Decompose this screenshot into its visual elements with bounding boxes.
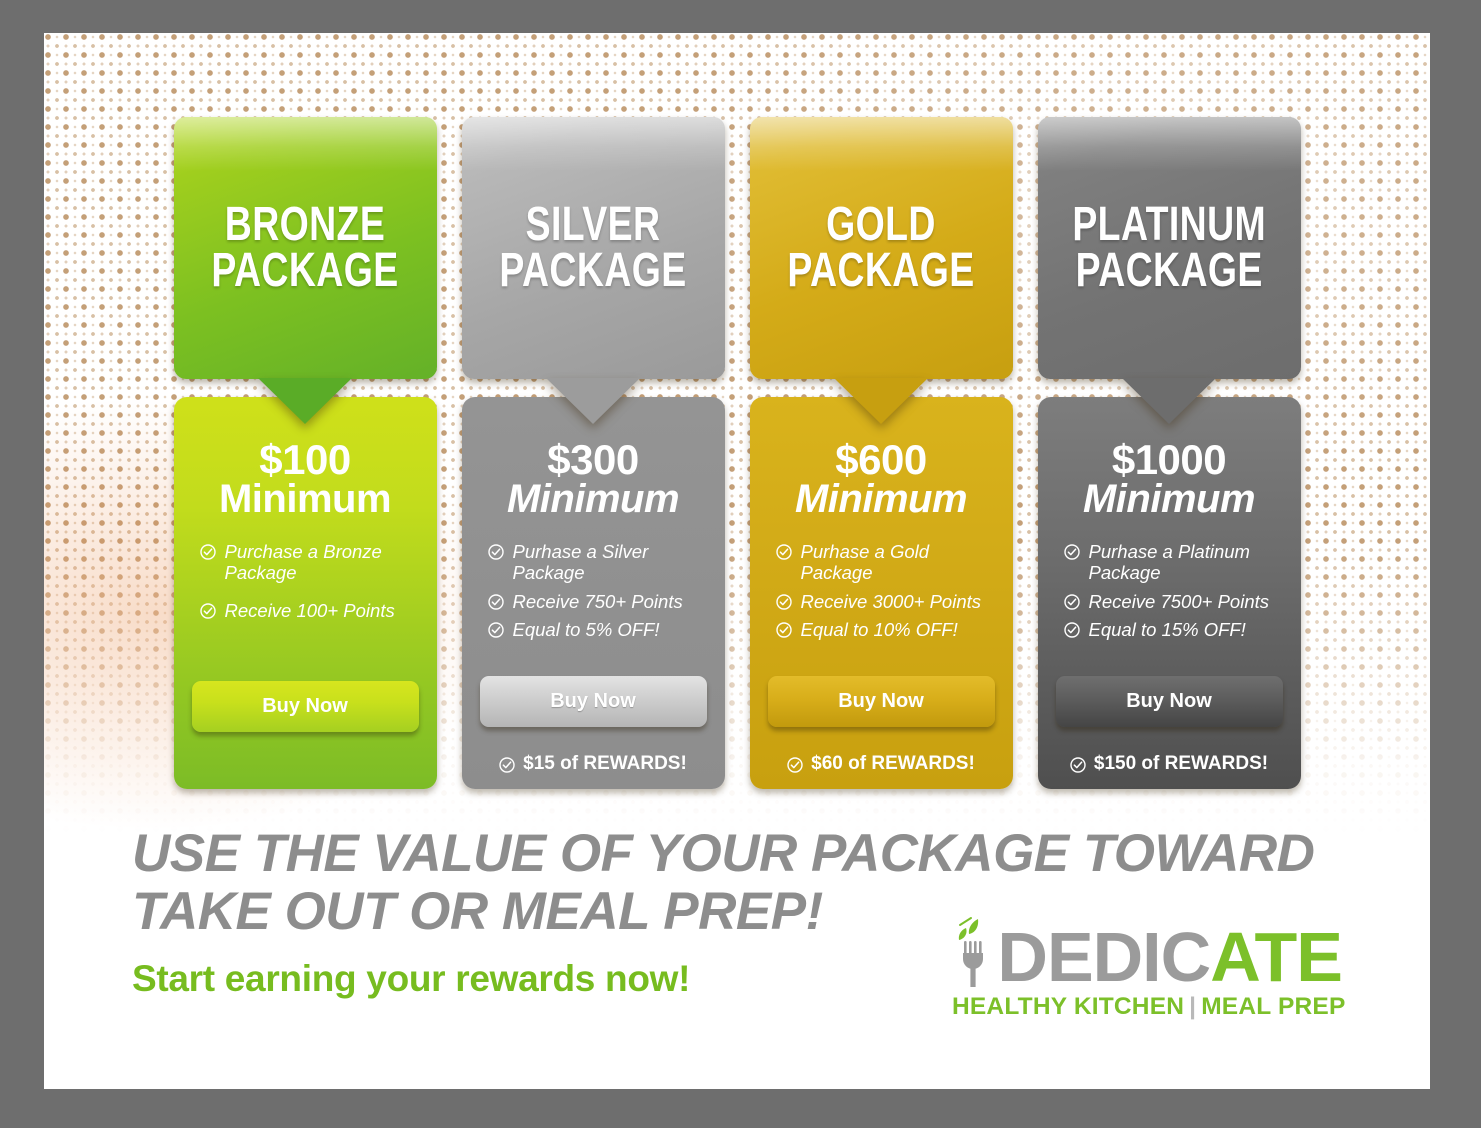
list-item: Receive 3000+ Points xyxy=(776,591,997,612)
feature-text: Purhase a Platinum Package xyxy=(1089,541,1285,583)
package-title-silver: SILVER PACKAGE xyxy=(499,202,686,294)
package-card-platinum: PLATINUM PACKAGE $1000 Minimum Purhase a… xyxy=(1038,117,1301,789)
package-title-line1: GOLD xyxy=(826,198,936,251)
package-title-line1: BRONZE xyxy=(225,198,385,251)
header-pointer-tail xyxy=(258,378,352,424)
check-circle-icon xyxy=(488,594,504,610)
check-circle-icon xyxy=(787,757,803,773)
price-qualifier: Minimum xyxy=(462,480,725,519)
feature-list: Purhase a Silver Package Receive 750+ Po… xyxy=(462,541,725,670)
header-pointer-tail xyxy=(546,378,640,424)
logo-wordmark: DEDIC ATE xyxy=(952,915,1342,989)
header-pointer-tail xyxy=(834,378,928,424)
price-qualifier: Minimum xyxy=(750,480,1013,519)
list-item: Receive 100+ Points xyxy=(200,600,421,621)
price-amount: $100 xyxy=(174,439,437,480)
feature-text: Equal to 5% OFF! xyxy=(513,619,660,640)
package-title-line1: PLATINUM xyxy=(1072,198,1266,251)
header-gloss xyxy=(750,117,1013,171)
package-title-gold: GOLD PACKAGE xyxy=(787,202,974,294)
package-title-platinum: PLATINUM PACKAGE xyxy=(1072,202,1266,294)
rewards-badge: $150 of REWARDS! xyxy=(1038,753,1301,775)
header-gloss xyxy=(174,117,437,171)
rewards-badge: $15 of REWARDS! xyxy=(462,753,725,775)
rewards-badge: $60 of REWARDS! xyxy=(750,753,1013,775)
list-item: Equal to 5% OFF! xyxy=(488,619,709,640)
package-title-line2: PACKAGE xyxy=(787,248,974,294)
logo-text-gray: DEDIC xyxy=(997,927,1210,989)
package-title-line2: PACKAGE xyxy=(499,248,686,294)
rewards-text: $150 of REWARDS! xyxy=(1094,753,1268,775)
header-gloss xyxy=(462,117,725,171)
list-item: Purhase a Gold Package xyxy=(776,541,997,583)
package-card-bronze: BRONZE PACKAGE $100 Minimum Purchase a B… xyxy=(174,117,437,789)
package-card-gold: GOLD PACKAGE $600 Minimum Purhase a Gold… xyxy=(750,117,1013,789)
package-header-gold: GOLD PACKAGE xyxy=(750,117,1013,379)
package-title-line2: PACKAGE xyxy=(211,248,398,294)
tagline-separator: | xyxy=(1184,993,1201,1020)
package-body-gold: $600 Minimum Purhase a Gold Package Rece… xyxy=(750,397,1013,789)
price-amount: $1000 xyxy=(1038,439,1301,480)
feature-text: Receive 7500+ Points xyxy=(1089,591,1270,612)
headline-line1: USE THE VALUE OF YOUR PACKAGE TOWARD xyxy=(132,824,1314,883)
list-item: Purhase a Platinum Package xyxy=(1064,541,1285,583)
rewards-text: $15 of REWARDS! xyxy=(523,753,687,775)
feature-text: Purhase a Silver Package xyxy=(513,541,709,583)
buy-now-button-silver[interactable]: Buy Now xyxy=(480,676,707,727)
buy-button-wrap: Buy Now xyxy=(750,676,1013,727)
check-circle-icon xyxy=(1064,544,1080,560)
feature-list: Purhase a Platinum Package Receive 7500+… xyxy=(1038,541,1301,670)
feature-text: Receive 750+ Points xyxy=(513,591,683,612)
feature-list: Purhase a Gold Package Receive 3000+ Poi… xyxy=(750,541,1013,670)
check-circle-icon xyxy=(776,544,792,560)
package-body-silver: $300 Minimum Purhase a Silver Package Re… xyxy=(462,397,725,789)
package-title-line1: SILVER xyxy=(526,198,661,251)
buy-now-button-gold[interactable]: Buy Now xyxy=(768,676,995,727)
fork-and-leaf-icon xyxy=(952,915,1001,989)
feature-text: Equal to 10% OFF! xyxy=(801,619,958,640)
header-pointer-tail xyxy=(1122,378,1216,424)
buy-now-button-bronze[interactable]: Buy Now xyxy=(192,681,419,732)
buy-button-wrap: Buy Now xyxy=(174,681,437,732)
poster-panel: BRONZE PACKAGE $100 Minimum Purchase a B… xyxy=(44,33,1430,1089)
feature-text: Purhase a Gold Package xyxy=(801,541,997,583)
package-title-bronze: BRONZE PACKAGE xyxy=(211,202,398,294)
list-item: Equal to 10% OFF! xyxy=(776,619,997,640)
check-circle-icon xyxy=(1064,594,1080,610)
list-item: Receive 750+ Points xyxy=(488,591,709,612)
tagline-right: MEAL PREP xyxy=(1201,993,1345,1020)
tagline-left: HEALTHY KITCHEN xyxy=(952,993,1184,1020)
price-amount: $600 xyxy=(750,439,1013,480)
logo-tagline: HEALTHY KITCHEN|MEAL PREP xyxy=(952,993,1342,1021)
header-gloss xyxy=(1038,117,1301,171)
check-circle-icon xyxy=(488,544,504,560)
package-header-platinum: PLATINUM PACKAGE xyxy=(1038,117,1301,379)
package-cards-row: BRONZE PACKAGE $100 Minimum Purchase a B… xyxy=(44,117,1430,789)
package-card-silver: SILVER PACKAGE $300 Minimum Purhase a Si… xyxy=(462,117,725,789)
feature-text: Purchase a Bronze Package xyxy=(225,541,421,583)
check-circle-icon xyxy=(776,622,792,638)
check-circle-icon xyxy=(499,757,515,773)
price-qualifier: Minimum xyxy=(1038,480,1301,519)
feature-text: Equal to 15% OFF! xyxy=(1089,619,1246,640)
package-body-platinum: $1000 Minimum Purhase a Platinum Package… xyxy=(1038,397,1301,789)
rewards-text: $60 of REWARDS! xyxy=(811,753,975,775)
package-title-line2: PACKAGE xyxy=(1072,248,1266,294)
bottom-message-block: USE THE VALUE OF YOUR PACKAGE TOWARD TAK… xyxy=(132,825,1386,1000)
feature-list: Purchase a Bronze Package Receive 100+ P… xyxy=(174,541,437,675)
check-circle-icon xyxy=(488,622,504,638)
logo-text-green: ATE xyxy=(1210,927,1342,989)
package-header-silver: SILVER PACKAGE xyxy=(462,117,725,379)
list-item: Equal to 15% OFF! xyxy=(1064,619,1285,640)
package-body-bronze: $100 Minimum Purchase a Bronze Package R… xyxy=(174,397,437,789)
package-header-bronze: BRONZE PACKAGE xyxy=(174,117,437,379)
list-item: Receive 7500+ Points xyxy=(1064,591,1285,612)
feature-text: Receive 3000+ Points xyxy=(801,591,982,612)
buy-button-wrap: Buy Now xyxy=(462,676,725,727)
list-item: Purchase a Bronze Package xyxy=(200,541,421,583)
buy-button-wrap: Buy Now xyxy=(1038,676,1301,727)
check-circle-icon xyxy=(200,603,216,619)
check-circle-icon xyxy=(776,594,792,610)
brand-logo: DEDIC ATE HEALTHY KITCHEN|MEAL PREP xyxy=(952,915,1342,1021)
list-item: Purhase a Silver Package xyxy=(488,541,709,583)
check-circle-icon xyxy=(1064,622,1080,638)
feature-text: Receive 100+ Points xyxy=(225,600,395,621)
price-amount: $300 xyxy=(462,439,725,480)
buy-now-button-platinum[interactable]: Buy Now xyxy=(1056,676,1283,727)
check-circle-icon xyxy=(200,544,216,560)
check-circle-icon xyxy=(1070,757,1086,773)
price-qualifier: Minimum xyxy=(174,480,437,519)
